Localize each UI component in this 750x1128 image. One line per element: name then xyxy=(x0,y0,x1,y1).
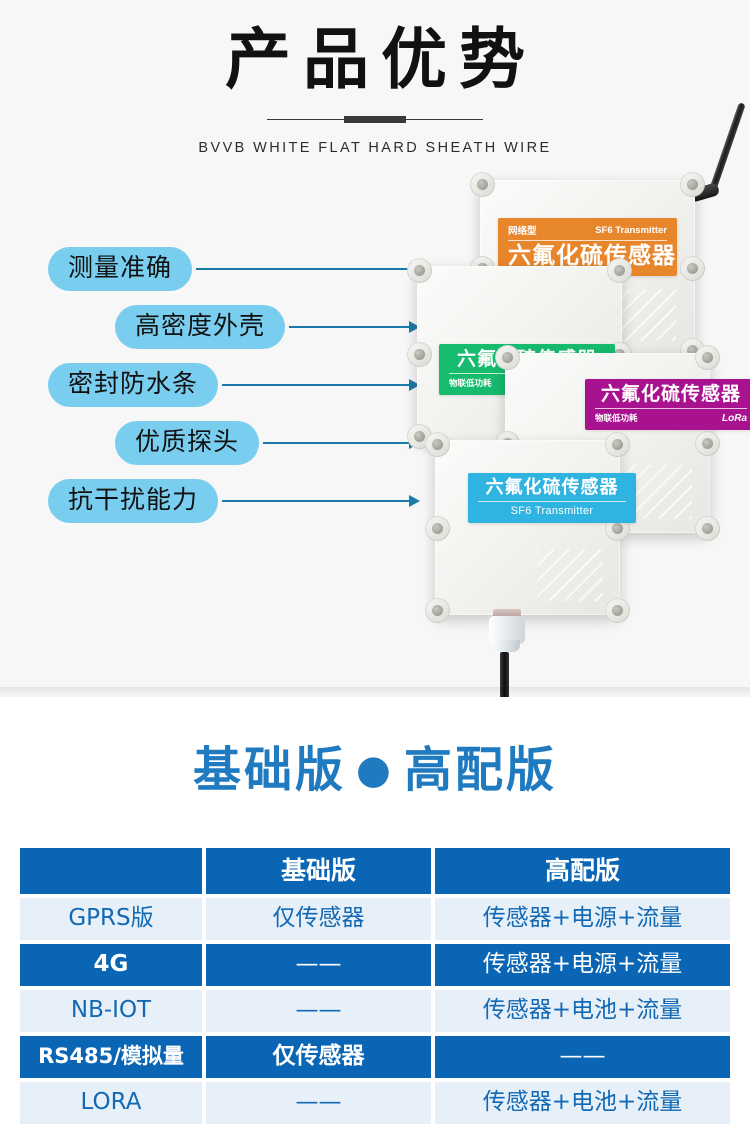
table-cell-basic: 仅传感器 xyxy=(206,1036,431,1078)
section-title-premium: 高配版 xyxy=(404,742,557,798)
table-cell-feature: 4G xyxy=(20,944,202,986)
screw-icon xyxy=(425,598,450,623)
device-label-model: SF6 Transmitter xyxy=(478,505,626,517)
screw-icon xyxy=(695,345,720,370)
table-cell-premium: 传感器+电源+流量 xyxy=(435,944,730,986)
page-title: 产品优势 xyxy=(0,22,750,98)
feature-arrow-icon xyxy=(222,375,420,395)
title-block: 产品优势 BVVB WHITE FLAT HARD SHEATH WIRE xyxy=(0,22,750,156)
table-cell-feature: NB-IOT xyxy=(20,990,202,1032)
feature-arrow-icon xyxy=(196,259,420,279)
device-label-blue: 六氟化硫传感器 SF6 Transmitter xyxy=(468,473,636,523)
feature-pill-anti-interference[interactable]: 抗干扰能力 xyxy=(48,479,218,524)
screw-icon xyxy=(425,516,450,541)
arrow-shaft xyxy=(222,500,410,502)
feature-arrow-icon xyxy=(222,491,420,511)
section-title-basic: 基础版 xyxy=(193,742,346,798)
device-label-model: LoRa xyxy=(722,413,747,424)
arrow-shaft xyxy=(222,384,410,386)
screw-icon xyxy=(695,431,720,456)
feature-item: 高密度外壳 xyxy=(0,298,420,356)
table-row: RS485/模拟量 仅传感器 —— xyxy=(20,1036,730,1078)
screw-icon xyxy=(680,256,705,281)
screw-icon xyxy=(407,258,432,283)
table-header-cell-basic: 基础版 xyxy=(206,848,431,894)
screw-icon xyxy=(605,432,630,457)
label-rule xyxy=(478,501,626,502)
table-cell-basic: —— xyxy=(206,944,431,986)
feature-item: 优质探头 xyxy=(0,414,420,472)
device-blue-sf6-sensor: 六氟化硫传感器 SF6 Transmitter xyxy=(435,440,620,615)
cable-gland-icon xyxy=(487,609,527,657)
table-cell-feature: RS485/模拟量 xyxy=(20,1036,202,1078)
feature-item: 抗干扰能力 xyxy=(0,472,420,530)
screw-icon xyxy=(695,516,720,541)
divider-knob xyxy=(344,116,406,123)
device-label-title: 六氟化硫传感器 xyxy=(595,384,747,405)
device-label-model: SF6 Transmitter xyxy=(595,225,667,236)
table-cell-basic: —— xyxy=(206,990,431,1032)
device-label-type: 物联低功耗 xyxy=(449,377,492,389)
label-rule xyxy=(595,408,747,409)
section-title-editions: 基础版●高配版 xyxy=(0,730,750,800)
page-subtitle: BVVB WHITE FLAT HARD SHEATH WIRE xyxy=(0,140,750,156)
device-label-title: 六氟化硫传感器 xyxy=(478,478,626,498)
product-image-stack: 网络型 SF6 Transmitter 六氟化硫传感器 六氟化硫传感器 物联低功… xyxy=(395,168,750,697)
feature-item: 密封防水条 xyxy=(0,356,420,414)
table-header-cell-blank xyxy=(20,848,202,894)
table-cell-premium: —— xyxy=(435,1036,730,1078)
arrow-shaft xyxy=(196,268,410,270)
arrow-shaft xyxy=(289,326,410,328)
table-header-row: 基础版 高配版 xyxy=(20,848,730,894)
table-cell-basic: 仅传感器 xyxy=(206,898,431,940)
table-cell-feature: GPRS版 xyxy=(20,898,202,940)
device-label-meta: 网络型 SF6 Transmitter xyxy=(508,223,667,237)
screw-icon xyxy=(680,172,705,197)
screw-icon xyxy=(495,345,520,370)
table-row: NB-IOT —— 传感器+电池+流量 xyxy=(20,990,730,1032)
screw-icon xyxy=(605,598,630,623)
feature-pill-waterproof-seal[interactable]: 密封防水条 xyxy=(48,363,218,408)
arrow-shaft xyxy=(263,442,410,444)
table-row: 4G —— 传感器+电源+流量 xyxy=(20,944,730,986)
product-advantage-hero: 产品优势 BVVB WHITE FLAT HARD SHEATH WIRE 测量… xyxy=(0,0,750,697)
device-label-meta: 物联低功耗 LoRa xyxy=(595,412,747,424)
screw-icon xyxy=(470,172,495,197)
screw-icon xyxy=(607,258,632,283)
feature-list: 测量准确 高密度外壳 密封防水条 优质探头 xyxy=(0,240,420,530)
screw-icon xyxy=(425,432,450,457)
gland-nut xyxy=(494,640,520,652)
feature-item: 测量准确 xyxy=(0,240,420,298)
device-label-type: 网络型 xyxy=(508,223,537,237)
screw-icon xyxy=(407,342,432,367)
feature-pill-quality-probe[interactable]: 优质探头 xyxy=(115,421,259,466)
feature-pill-high-density-shell[interactable]: 高密度外壳 xyxy=(115,305,285,350)
edition-comparison-table: 基础版 高配版 GPRS版 仅传感器 传感器+电源+流量 4G —— 传感器+电… xyxy=(20,848,730,1128)
feature-pill-measurement-accuracy[interactable]: 测量准确 xyxy=(48,247,192,292)
title-divider xyxy=(267,114,483,126)
sensor-cable xyxy=(500,652,509,697)
table-cell-premium: 传感器+电池+流量 xyxy=(435,990,730,1032)
table-header-cell-premium: 高配版 xyxy=(435,848,730,894)
section-title-separator: ● xyxy=(346,747,404,793)
table-cell-premium: 传感器+电源+流量 xyxy=(435,898,730,940)
device-label-magenta: 六氟化硫传感器 物联低功耗 LoRa xyxy=(585,379,750,430)
table-row: GPRS版 仅传感器 传感器+电源+流量 xyxy=(20,898,730,940)
label-rule xyxy=(508,240,667,241)
device-label-type: 物联低功耗 xyxy=(595,412,638,424)
